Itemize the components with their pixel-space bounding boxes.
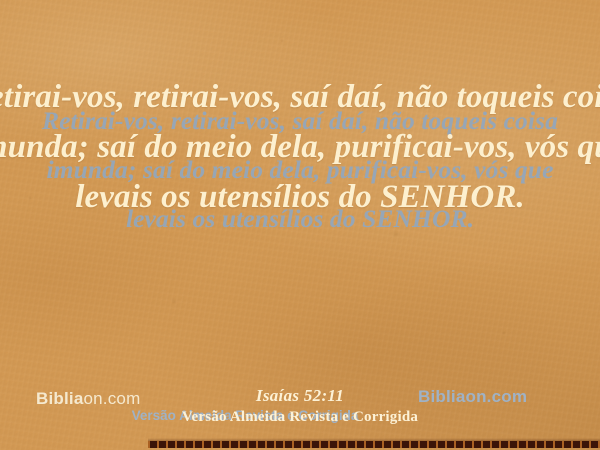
verse-reference: Isaías 52:11 [0, 386, 600, 406]
verse-text: Retirai-vos, retirai-vos, saí daí, não t… [0, 72, 600, 222]
bible-version-label: Versão Almeida Revista e Corrigida [0, 409, 600, 426]
bible-verse-card: Retirai-vos, retirai-vos, saí daí, não t… [0, 0, 600, 450]
bottom-dashed-rule [148, 441, 600, 448]
